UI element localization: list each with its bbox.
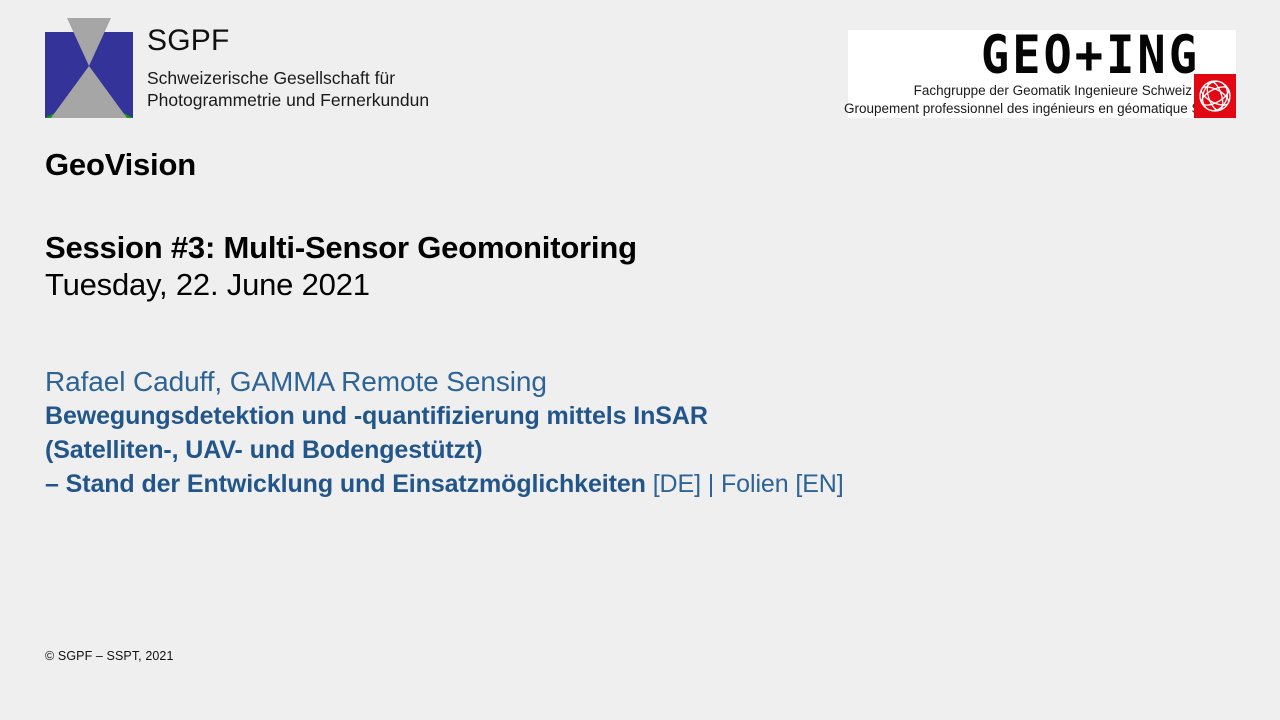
red-globe-icon [1194,74,1236,118]
sgpf-subtitle: Schweizerische Gesellschaft für Photogra… [147,68,429,112]
session-date: Tuesday, 22. June 2021 [45,267,1235,304]
sgpf-acronym: SGPF [147,26,429,56]
sgpf-double-cone-icon [45,18,133,118]
sgpf-subtitle-line-2: Photogrammetrie und Fernerkundun [147,90,429,112]
talk-title-line-1: Bewegungsdetektion und -quantifizierung … [45,399,1235,433]
talk-title-line-3-text: – Stand der Entwicklung und Einsatzmögli… [45,470,646,498]
footer-copyright: © SGPF – SSPT, 2021 [45,649,174,663]
talk-speaker: Rafael Caduff, GAMMA Remote Sensing [45,365,1235,399]
session-title: Session #3: Multi-Sensor Geomonitoring [45,230,1235,267]
event-title: GeoVision [45,148,1235,182]
sgpf-subtitle-line-1: Schweizerische Gesellschaft für [147,68,429,90]
talk-title-line-3: – Stand der Entwicklung und Einsatzmögli… [45,467,1235,501]
geoing-tagline-fr: Groupement professionnel des ingénieurs … [844,101,1192,116]
session-heading-group: Session #3: Multi-Sensor Geomonitoring T… [45,230,1235,303]
talk-entry: Rafael Caduff, GAMMA Remote Sensing Bewe… [45,365,1235,501]
geoing-logo-block: GEO+ING Fachgruppe der Geomatik Ingenieu… [848,30,1236,118]
sgpf-logo-block: SGPF Schweizerische Gesellschaft für Pho… [45,18,429,118]
slide-body: GeoVision Session #3: Multi-Sensor Geomo… [45,148,1235,501]
geoing-tagline-de: Fachgruppe der Geomatik Ingenieure Schwe… [848,83,1192,98]
sgpf-text-block: SGPF Schweizerische Gesellschaft für Pho… [147,18,429,112]
geoing-wordmark: GEO+ING [981,28,1200,83]
talk-language-tags: [DE] | Folien [EN] [653,470,844,498]
talk-title-line-2: (Satelliten-, UAV- und Bodengestützt) [45,433,1235,467]
